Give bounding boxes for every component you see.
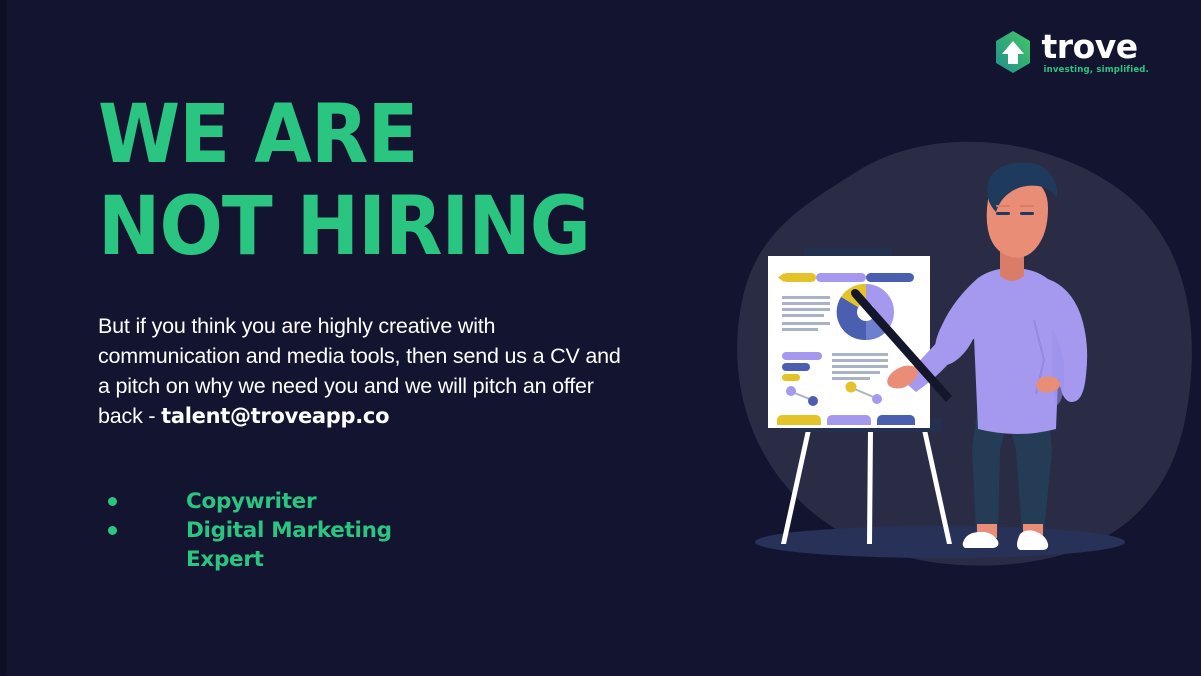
pointer-tip [851,289,859,297]
man-left-brow [996,205,1010,207]
board-bottom-columns [777,415,915,425]
man-right-eye [1020,212,1034,215]
floor-shadow-ellipse [755,526,1125,558]
role-label: Copywriter [186,487,316,516]
man-left-eye [996,212,1010,215]
illustration-man-presenting [700,120,1201,590]
contact-email[interactable]: talent@troveapp.co [161,404,389,428]
body-paragraph: But if you think you are highly creative… [98,311,628,431]
role-label: Digital Marketing Expert [186,516,392,574]
poster-canvas: trove investing, simplified. WE ARE NOT … [0,0,1201,676]
bullet-dot-icon [108,526,117,535]
page-title: WE ARE NOT HIRING [98,96,590,268]
list-item: Digital Marketing Expert [108,516,392,574]
headline-line-1: WE ARE [98,88,417,182]
brand-logo[interactable]: trove investing, simplified. [993,30,1149,75]
brand-wordmark: trove [1042,30,1149,63]
open-roles-list: Copywriter Digital Marketing Expert [108,487,392,574]
man-right-brow [1020,205,1034,207]
headline-line-2: NOT HIRING [98,188,590,267]
brand-tagline: investing, simplified. [1044,66,1149,75]
left-edge-rail [0,0,7,676]
bullet-dot-icon [108,497,117,506]
hexagon-up-arrow-icon [993,30,1033,74]
list-item: Copywriter [108,487,392,516]
